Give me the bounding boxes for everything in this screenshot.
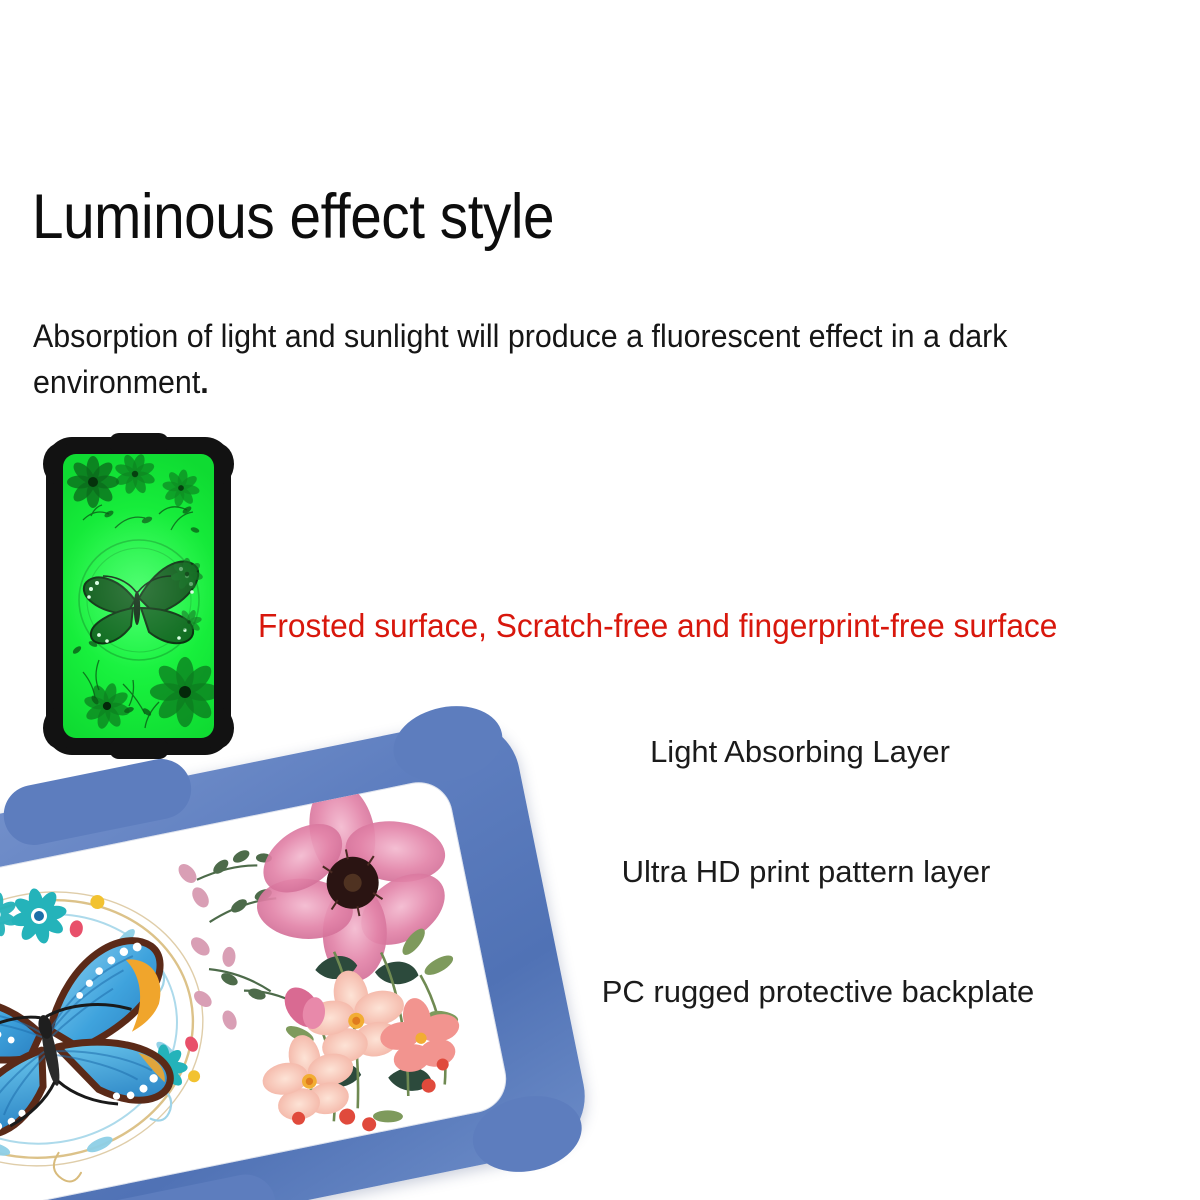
layer-label-print-pattern: Ultra HD print pattern layer [622,853,991,890]
glow-case-backplate [63,454,214,738]
page-subtitle: Absorption of light and sunlight will pr… [33,313,1107,406]
glowing-phone-case-image [46,437,231,755]
bumper-edge-lobe-top [109,433,169,453]
layer-label-light-absorbing: Light Absorbing Layer [650,733,950,770]
subtitle-period: . [200,364,208,400]
layer-label-backplate: PC rugged protective backplate [602,973,1035,1010]
page-subtitle-text: Absorption of light and sunlight will pr… [33,318,1008,400]
product-feature-slide: Luminous effect style Absorption of ligh… [0,0,1200,1200]
page-title: Luminous effect style [32,184,554,250]
bumper-edge-lobe-bottom [109,739,169,759]
printed-phone-case-image [0,710,595,1200]
highlight-callout-text: Frosted surface, Scratch-free and finger… [258,606,1057,646]
glow-highlight-overlay [63,454,214,738]
